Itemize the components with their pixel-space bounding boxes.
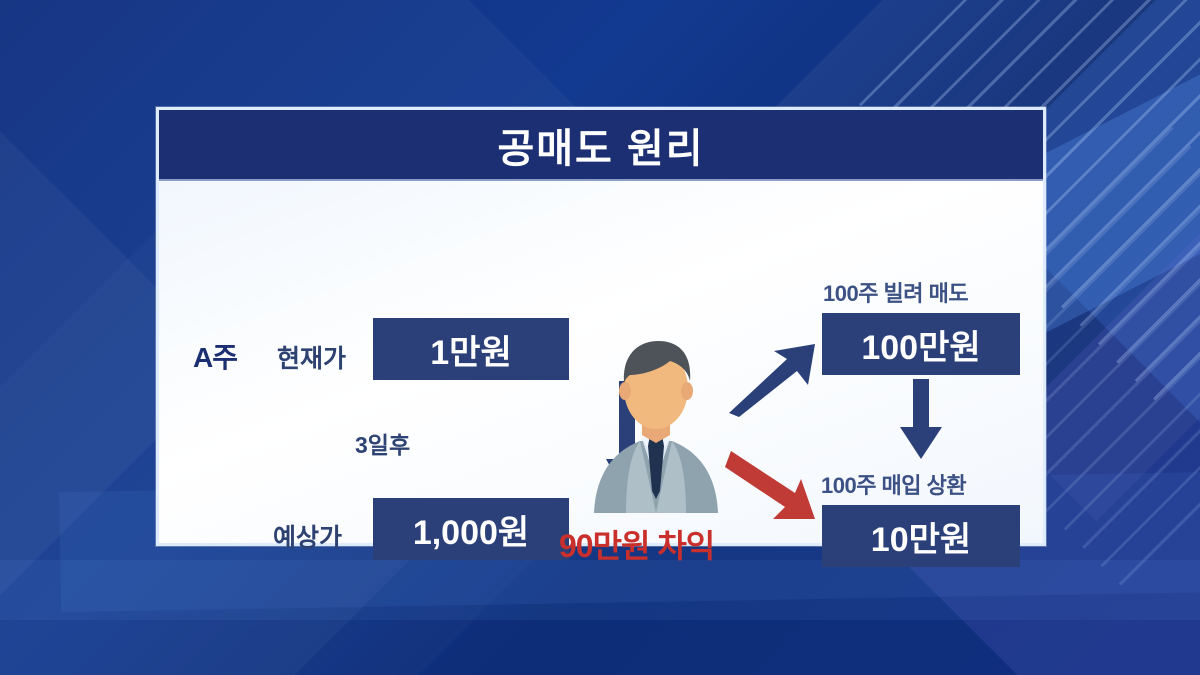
- arrow-up-right-icon: [725, 341, 819, 417]
- sell-value: 100만원: [861, 320, 980, 369]
- current-price-value-box: 1만원: [373, 318, 569, 380]
- profit-text: 90만원 차익: [559, 521, 714, 567]
- stock-name-label: A주: [193, 336, 237, 376]
- card-header: 공매도 원리: [159, 110, 1043, 181]
- current-price-value: 1만원: [430, 325, 511, 374]
- sell-value-box: 100만원: [822, 313, 1020, 375]
- arrow-down-icon: [899, 379, 943, 461]
- sell-caption: 100주 빌려 매도: [823, 276, 968, 308]
- infographic-card: 공매도 원리 A주 현재가 1만원 3일후 예상가 1,000원: [156, 107, 1046, 546]
- infographic-stage: 공매도 원리 A주 현재가 1만원 3일후 예상가 1,000원: [0, 0, 1200, 675]
- expected-price-value: 1,000원: [413, 505, 529, 554]
- buyback-caption: 100주 매입 상환: [821, 468, 966, 500]
- arrow-down-right-icon: [725, 449, 819, 525]
- bg-band-bottom-2: [0, 560, 1200, 620]
- buyback-value-box: 10만원: [822, 505, 1020, 567]
- current-price-label: 현재가: [277, 339, 346, 375]
- expected-price-label: 예상가: [273, 518, 342, 554]
- card-body: A주 현재가 1만원 3일후 예상가 1,000원: [159, 181, 1043, 545]
- expected-price-value-box: 1,000원: [373, 498, 569, 560]
- buyback-value: 10만원: [871, 512, 971, 561]
- businessman-avatar-icon: [576, 331, 736, 513]
- interval-label: 3일후: [355, 426, 410, 460]
- page-title: 공매도 원리: [497, 116, 704, 174]
